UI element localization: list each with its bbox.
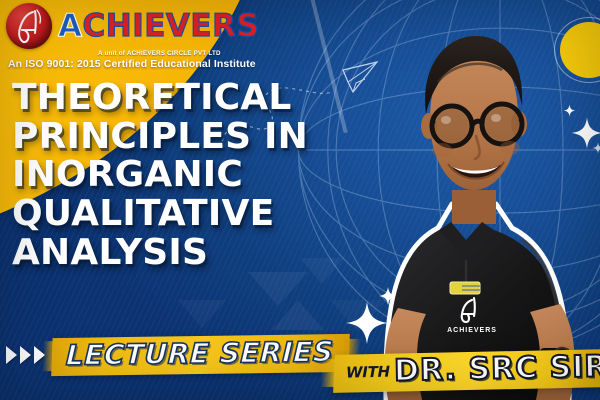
presenter-name: DR. SRC SIR [393,352,600,386]
achievers-circle-logo-icon [6,3,52,49]
poster-canvas: A CHIEVERS A unit of ACHIEVERS CIRCLE PV… [0,0,600,400]
presenter-with-label: WITH [346,363,390,382]
presenter-photo: ACHIEVERS [326,8,600,400]
svg-text:ACHIEVERS: ACHIEVERS [447,327,497,334]
brand-wordmark: A CHIEVERS [58,11,259,42]
title-line-3: INORGANIC [12,157,372,193]
series-brush-stroke: LECTURE SERIES [51,334,350,376]
title-line-2: PRINCIPLES IN [12,119,372,155]
bg-triangle [248,272,308,306]
title-line-1: THEORETICAL [12,80,372,116]
presenter-banner: WITH DR. SRC SIR [333,349,600,393]
brand-unit-line: A unit of ACHIEVERS CIRCLE PVT LTD [98,50,346,57]
logo-dot-row [96,38,171,41]
play-triangle-icon [20,346,31,364]
brand-iso-line: An ISO 9001: 2015 Certified Educational … [8,58,346,70]
brand-header: A CHIEVERS A unit of ACHIEVERS CIRCLE PV… [6,2,346,64]
title-line-4: QUALITATIVE [12,196,372,232]
play-triangle-icon-group [6,346,45,364]
wordmark-rest: CHIEVERS [83,11,260,42]
lecture-series-banner: LECTURE SERIES [4,336,349,374]
wordmark-letter-a: A [58,11,83,42]
bg-triangle [272,300,324,330]
series-label: LECTURE SERIES [65,338,334,370]
bg-triangle [178,300,226,328]
title-line-5: ANALYSIS [12,235,372,271]
play-triangle-icon [6,346,17,364]
page-title: THEORETICAL PRINCIPLES IN INORGANIC QUAL… [12,80,372,270]
